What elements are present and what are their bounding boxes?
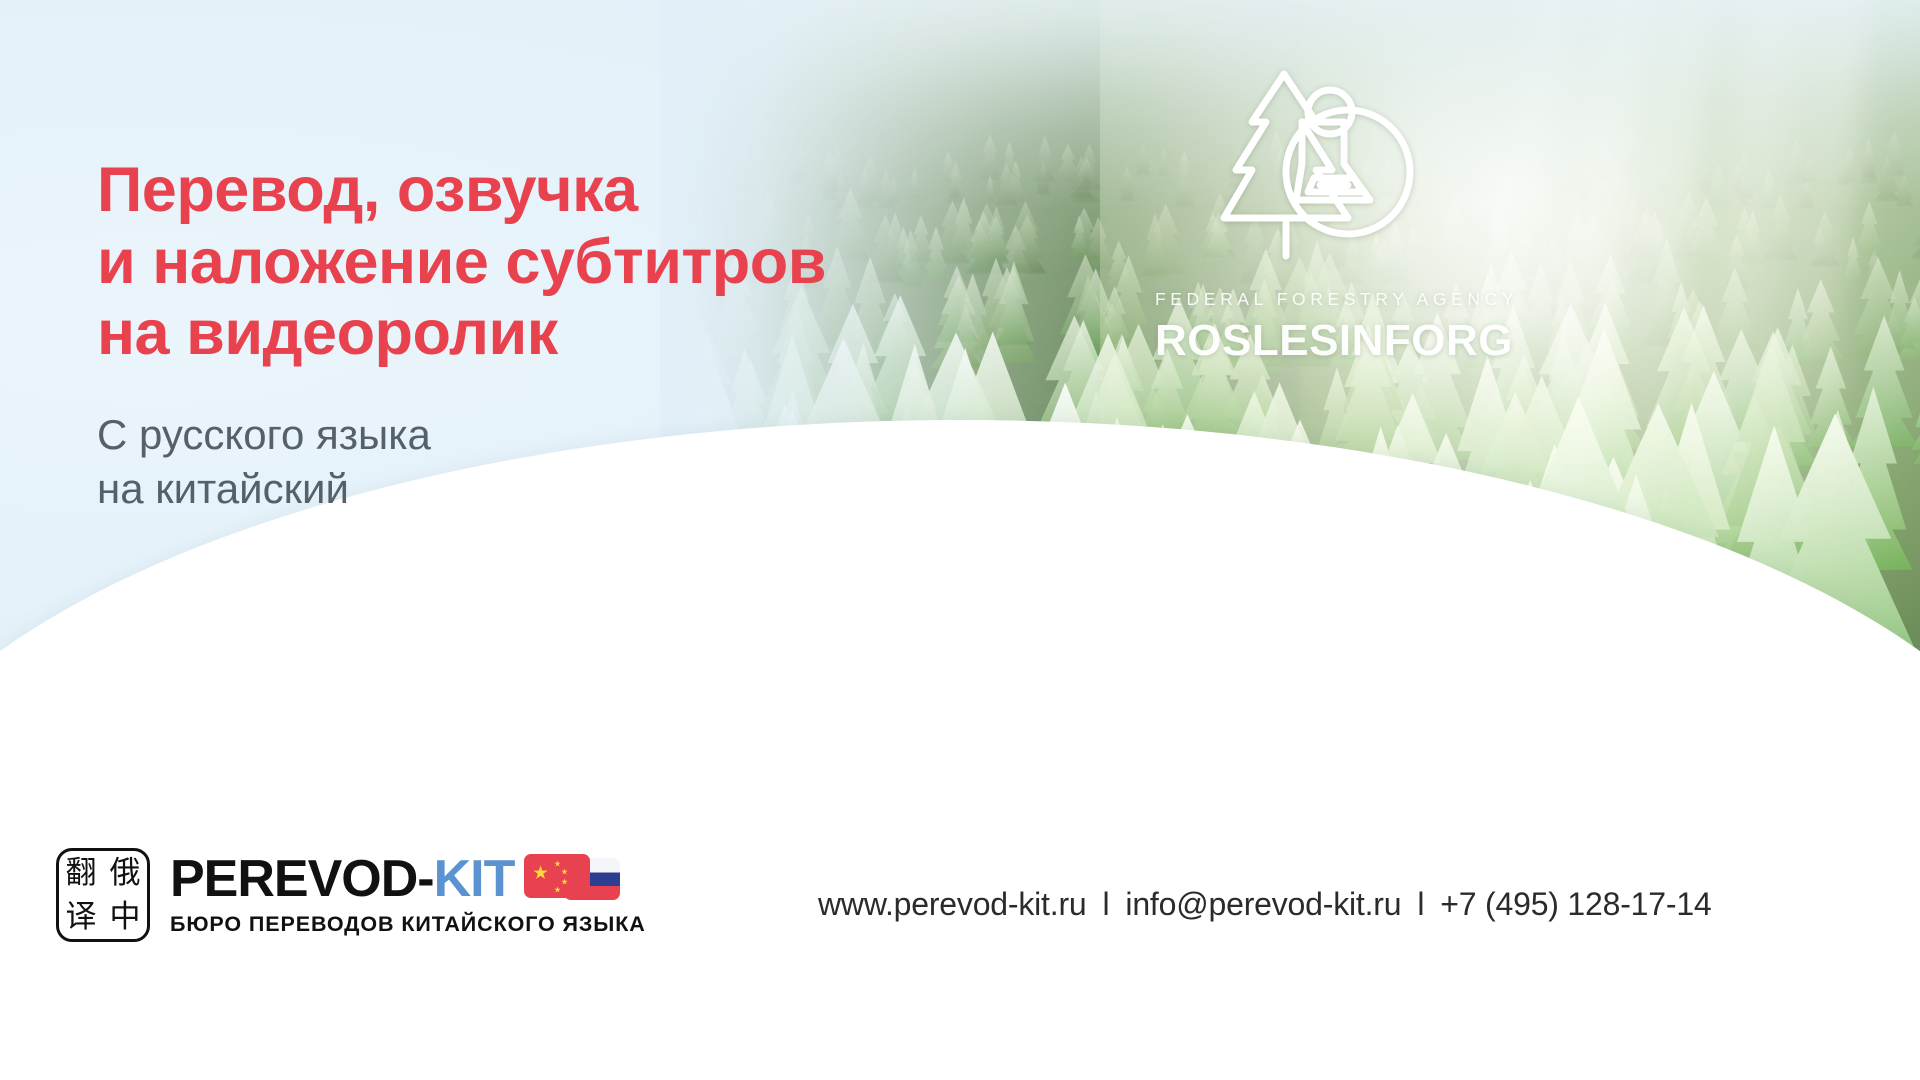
china-flag-big-star: ★: [533, 866, 546, 882]
perevod-kit-logo[interactable]: 翻 俄 译 中 PEREVOD - KIT ★ ★ ★: [56, 848, 646, 942]
website-link[interactable]: www.perevod-kit.ru: [818, 886, 1087, 923]
agency-name: ROSLESINFORG: [1155, 316, 1485, 366]
contact-info: www.perevod-kit.ru l info@perevod-kit.ru…: [818, 886, 1712, 923]
chinese-seal-icon: 翻 俄 译 中: [56, 848, 150, 942]
promo-banner: Перевод, озвучка и наложение субтитров н…: [0, 0, 1920, 1080]
brand-tagline: БЮРО ПЕРЕВОДОВ КИТАЙСКОГО ЯЗЫКА: [170, 912, 646, 937]
wordmark-accent: KIT: [434, 853, 515, 905]
email-link[interactable]: info@perevod-kit.ru: [1125, 886, 1401, 923]
wordmark-separator: -: [417, 853, 433, 905]
flag-pair: ★ ★ ★ ★ ★: [524, 854, 620, 904]
china-flag-icon: ★ ★ ★ ★ ★: [524, 854, 590, 898]
china-flag-small-star-4: ★: [554, 887, 559, 894]
roslesinforg-logo: FEDERAL FORESTRY AGENCY ROSLESINFORG: [1155, 60, 1485, 366]
china-flag-small-star-1: ★: [554, 861, 559, 868]
china-flag-small-star-3: ★: [561, 879, 566, 886]
brand-wordmark: PEREVOD - KIT ★ ★ ★ ★ ★: [170, 853, 646, 905]
agency-tagline: FEDERAL FORESTRY AGENCY: [1155, 289, 1485, 310]
hero-section: Перевод, озвучка и наложение субтитров н…: [0, 0, 1920, 800]
seal-char-1: 翻: [66, 858, 97, 889]
fir-tree-beaver-emblem-icon: [1220, 60, 1420, 275]
seal-char-3: 译: [66, 902, 97, 933]
china-flag-small-star-2: ★: [561, 869, 566, 876]
page-title: Перевод, озвучка и наложение субтитров н…: [97, 155, 877, 370]
seal-char-2: 俄: [110, 858, 141, 889]
wordmark-primary: PEREVOD: [170, 853, 417, 905]
hero-subtitle: С русского языка на китайский: [97, 408, 877, 517]
hero-copy: Перевод, озвучка и наложение субтитров н…: [97, 155, 877, 517]
phone-number[interactable]: +7 (495) 128-17-14: [1440, 886, 1711, 923]
brand-text-block: PEREVOD - KIT ★ ★ ★ ★ ★ БЮРО ПЕ: [170, 853, 646, 937]
contact-separator-1: l: [1103, 886, 1110, 923]
footer-bar: 翻 俄 译 中 PEREVOD - KIT ★ ★ ★: [0, 800, 1920, 1080]
seal-char-4: 中: [110, 902, 141, 933]
contact-separator-2: l: [1417, 886, 1424, 923]
